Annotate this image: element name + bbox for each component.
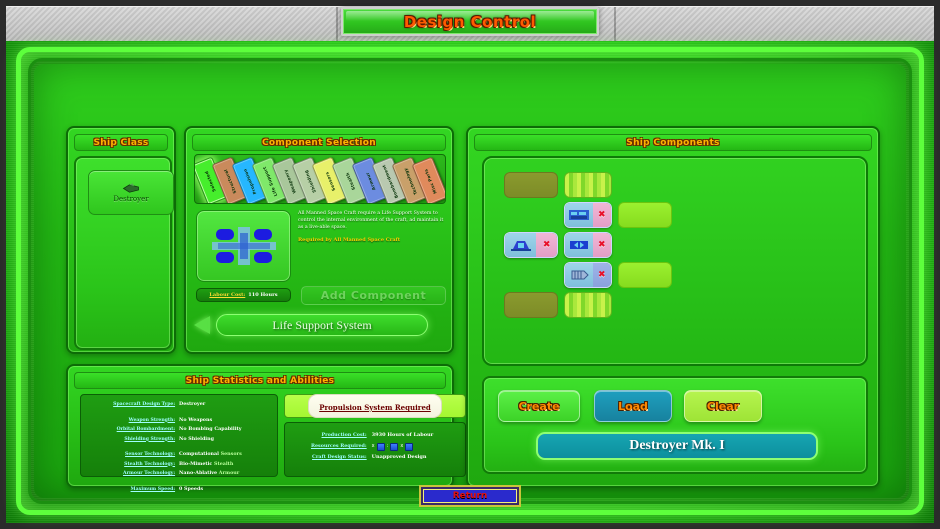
- page-title: Design Control: [404, 13, 536, 31]
- clear-button-label: Clear: [707, 400, 739, 413]
- create-button-label: Create: [518, 400, 559, 413]
- stat-key: Spacecraft Design Type:: [85, 401, 175, 410]
- labour-cost-label: Labour Cost:: [209, 292, 245, 298]
- ship-class-item-destroyer[interactable]: Destroyer: [88, 170, 174, 215]
- remove-component-button[interactable]: ✖: [593, 203, 611, 227]
- ship-stats-list: Spacecraft Design Type: Destroyer Weapon…: [80, 394, 278, 477]
- component-slot-structure[interactable]: [564, 172, 612, 198]
- return-button-inner: Return: [423, 489, 517, 503]
- resources-required-row: Resources Required: x : x: [289, 441, 461, 452]
- clear-button[interactable]: Clear: [684, 390, 762, 422]
- ship-statistics-header: Ship Statistics and Abilities: [74, 372, 446, 389]
- close-icon: ✖: [598, 211, 606, 220]
- stat-value: Nano-Ablative Armour: [179, 469, 273, 478]
- resource-chip-icon: [390, 443, 398, 451]
- load-button[interactable]: Load: [594, 390, 672, 422]
- stat-row: Orbital Bombardment: No Bombing Capabili…: [85, 425, 273, 435]
- stat-value: 0 Speeds: [179, 485, 273, 494]
- component-slot-filled[interactable]: ✖: [504, 232, 558, 258]
- design-name-field[interactable]: Destroyer Mk. I: [536, 432, 818, 460]
- stat-row: Spacecraft Design Type: Destroyer: [85, 400, 273, 410]
- component-slot-empty[interactable]: [504, 172, 558, 198]
- ship-class-list: Destroyer: [74, 156, 172, 350]
- remove-component-button[interactable]: ✖: [593, 263, 611, 287]
- hull-module-icon: [565, 263, 593, 287]
- resource-chip-icon: [377, 443, 385, 451]
- design-status-label: Craft Design Status:: [289, 452, 367, 463]
- component-slot-filled[interactable]: ✖: [564, 202, 612, 228]
- design-name-value: Destroyer Mk. I: [629, 438, 725, 454]
- return-button[interactable]: Return: [419, 485, 521, 507]
- component-layout-grid[interactable]: ✖✖✖✖: [482, 156, 868, 366]
- stat-row: Sensor Technology: Computational Sensors: [85, 450, 273, 460]
- component-tab-label: Stealth: [344, 171, 356, 190]
- stat-key: Armour Technology:: [85, 470, 175, 479]
- ship-class-title: Ship Class: [93, 138, 148, 148]
- labour-cost-value: 110 Hours: [248, 292, 277, 298]
- component-slot-filled[interactable]: ✖: [564, 262, 612, 288]
- component-description: All Manned Space Craft require a Life Su…: [298, 210, 446, 231]
- production-cost-value: 3930 Hours of Labour: [372, 430, 461, 441]
- selected-component-bar[interactable]: Life Support System: [216, 314, 428, 336]
- component-tab-label: Armour: [364, 171, 376, 190]
- create-button[interactable]: Create: [498, 390, 580, 422]
- load-button-label: Load: [618, 400, 648, 413]
- component-tab-label: Misc Parts: [423, 168, 438, 194]
- engine-module-icon: [505, 233, 536, 257]
- add-component-button[interactable]: Add Component: [301, 286, 446, 305]
- production-summary: Production Cost: 3930 Hours of Labour Re…: [284, 422, 466, 477]
- previous-component-arrow-icon[interactable]: [194, 316, 210, 334]
- component-slot-empty[interactable]: [504, 292, 558, 318]
- titlebar-seam-left: [336, 7, 338, 42]
- content-area: Ship Class Destroyer Component Selection: [34, 64, 906, 498]
- component-slot-empty[interactable]: [618, 262, 672, 288]
- component-category-tabs: SelectedStructuralPropulsionLife Support…: [194, 154, 446, 204]
- ship-class-header: Ship Class: [74, 134, 168, 151]
- component-description-block: All Manned Space Craft require a Life Su…: [298, 210, 446, 276]
- component-slot-empty[interactable]: [618, 202, 672, 228]
- stat-key: Shielding Strength:: [85, 436, 175, 445]
- design-status-value: Unapproved Design: [372, 452, 461, 463]
- main-background: Ship Class Destroyer Component Selection: [6, 41, 934, 523]
- component-selection-header: Component Selection: [192, 134, 446, 151]
- remove-component-button[interactable]: ✖: [536, 233, 557, 257]
- destroyer-ship-icon: [122, 183, 140, 194]
- stat-row: Stealth Technology: Bio-Mimetic Stealth: [85, 460, 273, 470]
- design-warning-pill: Propulsion System Required: [308, 394, 442, 418]
- selected-component-label: Life Support System: [272, 318, 371, 333]
- life-support-module-icon: [565, 203, 593, 227]
- stat-row: Armour Technology: Nano-Ablative Armour: [85, 469, 273, 479]
- remove-component-button[interactable]: ✖: [593, 233, 611, 257]
- close-icon: ✖: [543, 241, 551, 250]
- stat-key: Orbital Bombardment:: [85, 426, 175, 435]
- reactor-module-icon: [565, 233, 593, 257]
- component-requirement-note: Required by All Manned Space Craft: [298, 237, 446, 244]
- life-support-module-icon: [208, 223, 280, 269]
- add-component-label: Add Component: [321, 289, 427, 302]
- stat-value: No Bombing Capability: [179, 425, 273, 434]
- stat-value: Destroyer: [179, 400, 273, 409]
- app-screen: Design Control Ship Class Destroyer: [0, 0, 940, 529]
- stat-value: No Weapons: [179, 416, 273, 425]
- component-slot-structure[interactable]: [564, 292, 612, 318]
- component-slot-filled[interactable]: ✖: [564, 232, 612, 258]
- stat-key: Sensor Technology:: [85, 451, 175, 460]
- production-cost-row: Production Cost: 3930 Hours of Labour: [289, 430, 461, 441]
- design-status-row: Craft Design Status: Unapproved Design: [289, 452, 461, 463]
- ship-components-header: Ship Components: [474, 134, 872, 151]
- resources-required-value: x : x: [372, 441, 461, 452]
- return-button-label: Return: [453, 491, 488, 501]
- close-icon: ✖: [598, 241, 606, 250]
- close-icon: ✖: [598, 271, 606, 280]
- stat-row: Weapon Strength: No Weapons: [85, 416, 273, 426]
- component-selection-title: Component Selection: [262, 138, 376, 148]
- stat-value: Computational Sensors: [179, 450, 273, 459]
- ship-components-title: Ship Components: [626, 138, 719, 148]
- design-warning-banner: Propulsion System Required: [284, 394, 466, 418]
- stat-key: Stealth Technology:: [85, 461, 175, 470]
- stat-key: Weapon Strength:: [85, 417, 175, 426]
- resource-chip-icon: [405, 443, 413, 451]
- stat-row: Shielding Strength: No Shielding: [85, 435, 273, 445]
- resources-required-label: Resources Required:: [289, 441, 367, 452]
- stat-row: Maximum Speed: 0 Speeds: [85, 485, 273, 495]
- ship-class-panel: Ship Class Destroyer: [66, 126, 176, 354]
- ship-class-item-label: Destroyer: [113, 195, 148, 203]
- ship-components-panel: Ship Components ✖✖✖✖ Create Load Clear D…: [466, 126, 880, 488]
- stat-value: No Shielding: [179, 435, 273, 444]
- design-warning-text: Propulsion System Required: [319, 403, 431, 412]
- component-preview: [196, 210, 291, 282]
- titlebar-seam-right: [614, 7, 616, 42]
- production-cost-label: Production Cost:: [289, 430, 367, 441]
- ship-statistics-panel: Ship Statistics and Abilities Spacecraft…: [66, 364, 454, 488]
- labour-cost-readout: Labour Cost: 110 Hours: [196, 288, 291, 302]
- components-action-area: Create Load Clear Destroyer Mk. I: [482, 376, 868, 474]
- component-selection-panel: Component Selection SelectedStructuralPr…: [184, 126, 454, 354]
- stat-value: Bio-Mimetic Stealth: [179, 460, 273, 469]
- ship-statistics-title: Ship Statistics and Abilities: [186, 376, 335, 386]
- window-title-plate: Design Control: [341, 7, 599, 36]
- stat-key: Maximum Speed:: [85, 486, 175, 495]
